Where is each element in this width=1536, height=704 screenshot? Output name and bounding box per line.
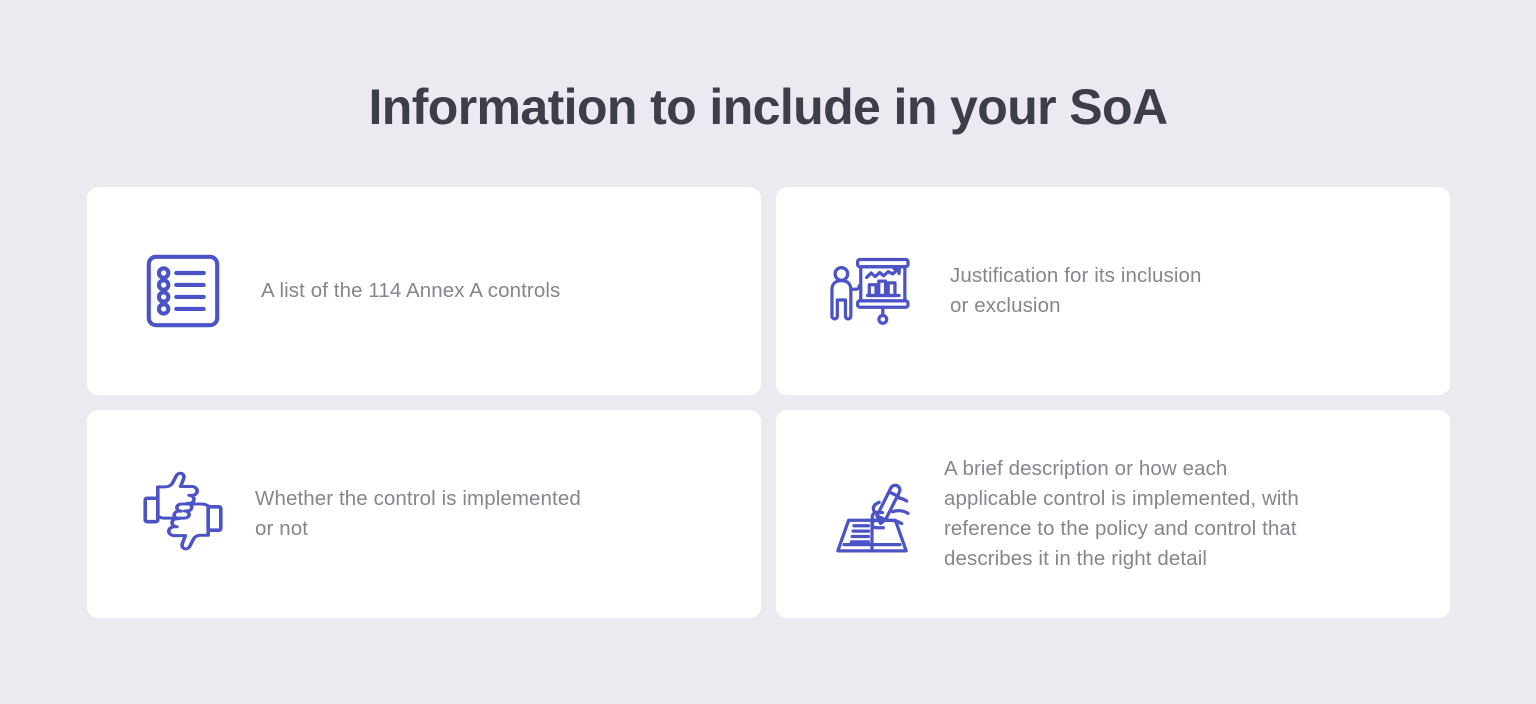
page-title: Information to include in your SoA	[0, 74, 1536, 140]
card-text: Justification for its inclusion or exclu…	[950, 261, 1201, 321]
card-text: A brief description or how each applicab…	[944, 454, 1299, 574]
card-text: A list of the 114 Annex A controls	[261, 276, 560, 306]
card-annex-a-controls[interactable]: A list of the 114 Annex A controls	[87, 187, 761, 395]
presentation-chart-icon	[820, 239, 924, 343]
card-implementation-status[interactable]: Whether the control is implemented or no…	[87, 410, 761, 618]
card-control-description[interactable]: A brief description or how each applicab…	[776, 410, 1450, 618]
card-text: Whether the control is implemented or no…	[255, 484, 581, 544]
thumbs-up-down-icon	[131, 462, 235, 566]
infographic-page: Information to include in your SoA A lis…	[0, 0, 1536, 704]
hand-writing-book-icon	[820, 462, 924, 566]
checklist-icon	[131, 239, 235, 343]
card-grid: A list of the 114 Annex A controls	[87, 187, 1450, 618]
card-justification[interactable]: Justification for its inclusion or exclu…	[776, 187, 1450, 395]
